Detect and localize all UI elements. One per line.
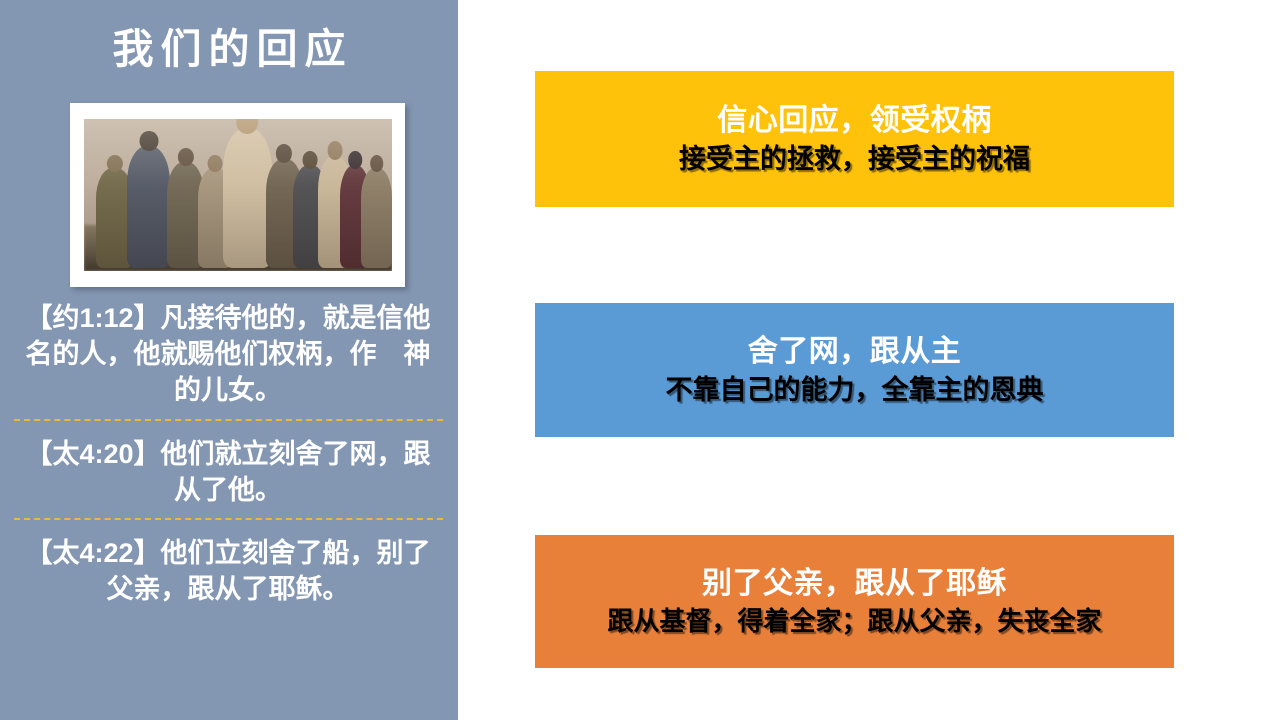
content-boxes: 信心回应，领受权柄 接受主的拯救，接受主的祝福 舍了网，跟从主 不靠自己的能力，… [0,0,1280,720]
box-heading: 别了父亲，跟从了耶稣 [702,566,1007,601]
box-subheading: 不靠自己的能力，全靠主的恩典 [666,374,1044,406]
content-box-leave-nets: 舍了网，跟从主 不靠自己的能力，全靠主的恩典 [535,303,1174,437]
box-heading: 信心回应，领受权柄 [717,103,992,138]
box-subheading: 接受主的拯救，接受主的祝福 [679,143,1030,175]
box-heading: 舍了网，跟从主 [748,334,962,369]
content-box-leave-father: 别了父亲，跟从了耶稣 跟从基督，得着全家；跟从父亲，失丧全家 [535,535,1174,668]
box-subheading: 跟从基督，得着全家；跟从父亲，失丧全家 [607,606,1101,637]
content-box-faith-response: 信心回应，领受权柄 接受主的拯救，接受主的祝福 [535,71,1174,207]
presentation-slide: 我们的回应 【约 [0,0,1280,720]
